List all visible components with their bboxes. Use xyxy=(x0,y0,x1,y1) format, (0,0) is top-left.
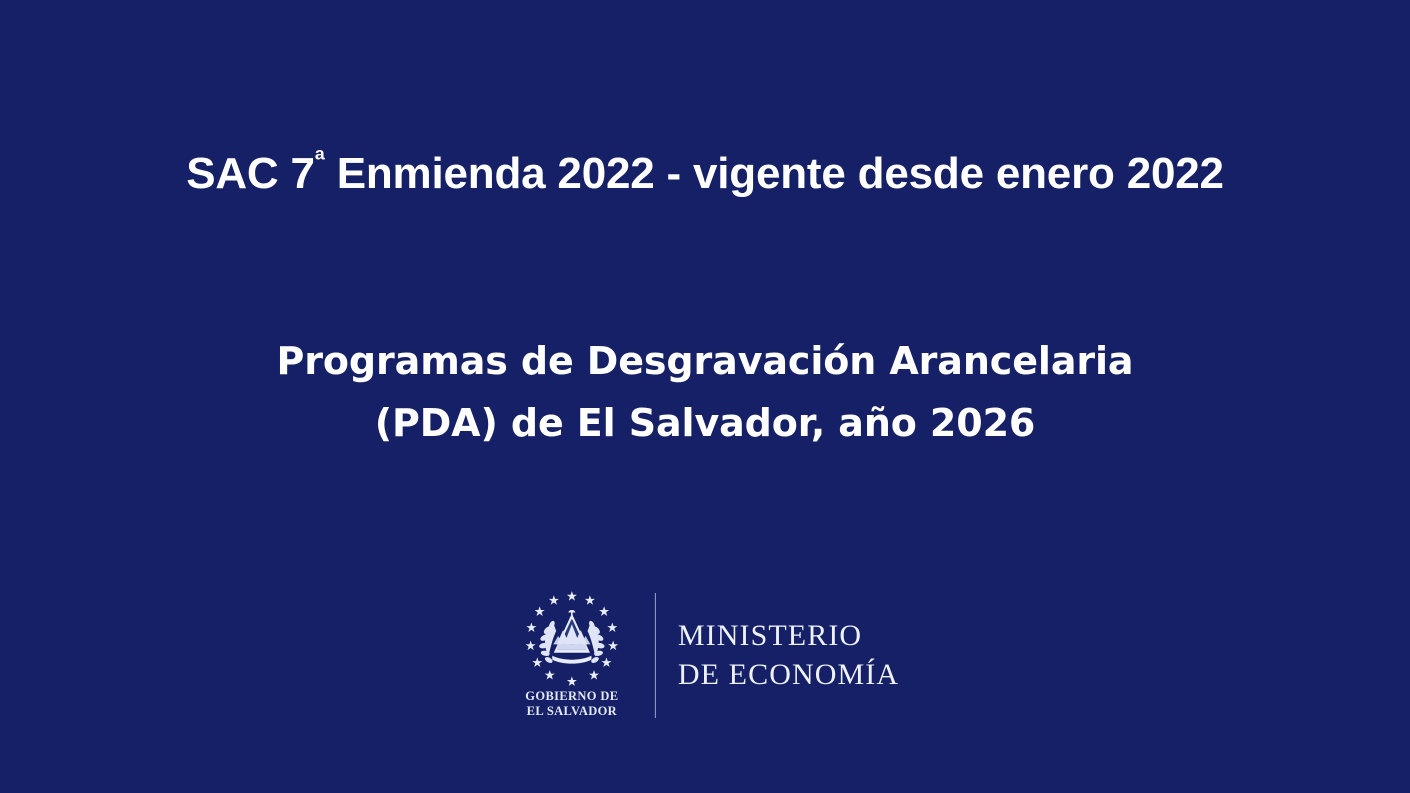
page-title-primary: SAC 7ª Enmienda 2022 - vigente desde ene… xyxy=(185,143,1225,205)
institutional-logo-lockup: GOBIERNO DE EL SALVADOR MINISTERIO DE EC… xyxy=(511,588,899,726)
logo-divider xyxy=(655,593,656,718)
government-label: GOBIERNO DE EL SALVADOR xyxy=(525,689,618,720)
el-salvador-coat-of-arms-icon xyxy=(523,590,621,688)
page-title-secondary: Programas de Desgravación Arancelaria (P… xyxy=(240,330,1170,455)
title-primary-lead: SAC 7 xyxy=(186,149,315,198)
slide-canvas: SAC 7ª Enmienda 2022 - vigente desde ene… xyxy=(0,0,1410,793)
ministry-logo-group: MINISTERIO DE ECONOMÍA xyxy=(678,588,899,726)
ordinal-indicator-icon: ª xyxy=(315,144,325,175)
government-logo-group: GOBIERNO DE EL SALVADOR xyxy=(511,588,633,726)
ministry-label: MINISTERIO DE ECONOMÍA xyxy=(678,616,899,694)
title-primary-rest: Enmienda 2022 - vigente desde enero 2022 xyxy=(325,149,1224,198)
